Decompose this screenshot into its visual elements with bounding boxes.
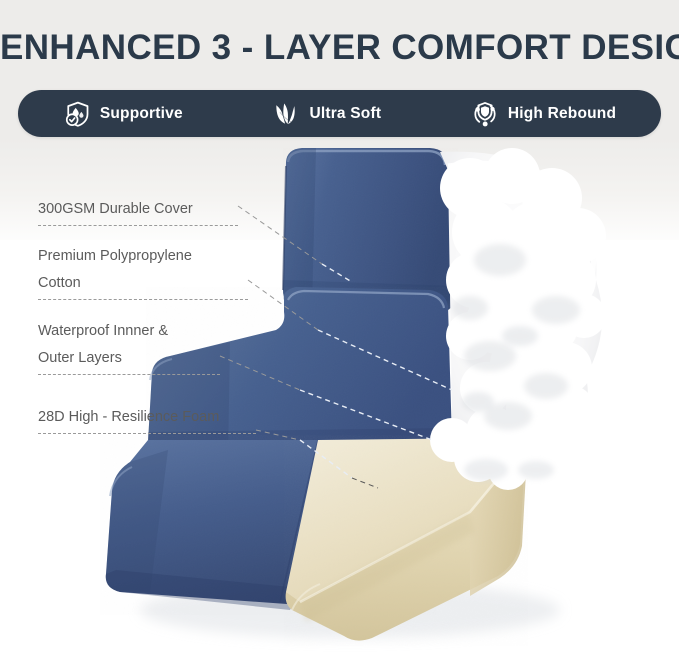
callout-polypropylene-cotton: Premium Polypropylene Cotton [38, 243, 248, 300]
callout-rule [38, 299, 248, 300]
callout-line: Cotton [38, 270, 248, 297]
callout-line: 300GSM Durable Cover [38, 196, 238, 223]
feature-label: High Rebound [508, 105, 616, 123]
callout-rule [38, 433, 256, 434]
shield-orbit-icon [471, 100, 499, 128]
callout-waterproof-layers: Waterproof Innner & Outer Layers [38, 318, 220, 375]
callout-durable-cover: 300GSM Durable Cover [38, 196, 238, 226]
shield-droplet-check-icon [63, 100, 91, 128]
feature-label: Ultra Soft [309, 105, 381, 123]
feather-icon [272, 100, 300, 128]
fiber-fill-layer [430, 148, 606, 490]
feature-ultra-soft[interactable]: Ultra Soft [272, 100, 381, 128]
page-title: ENHANCED 3 - LAYER COMFORT DESIGN [0, 26, 679, 70]
infographic-canvas: ENHANCED 3 - LAYER COMFORT DESIGN Suppor… [0, 0, 679, 660]
callout-line: Waterproof Innner & [38, 318, 220, 345]
callout-rule [38, 225, 238, 226]
callout-line: Outer Layers [38, 345, 220, 372]
callout-line: Premium Polypropylene [38, 243, 248, 270]
callout-resilience-foam: 28D High - Resilience Foam [38, 404, 256, 434]
feature-supportive[interactable]: Supportive [63, 100, 183, 128]
feature-bar: Supportive Ultra Soft High Rebound [18, 90, 661, 137]
feature-high-rebound[interactable]: High Rebound [471, 100, 616, 128]
callout-line: 28D High - Resilience Foam [38, 404, 256, 431]
callout-rule [38, 374, 220, 375]
feature-label: Supportive [100, 105, 183, 123]
